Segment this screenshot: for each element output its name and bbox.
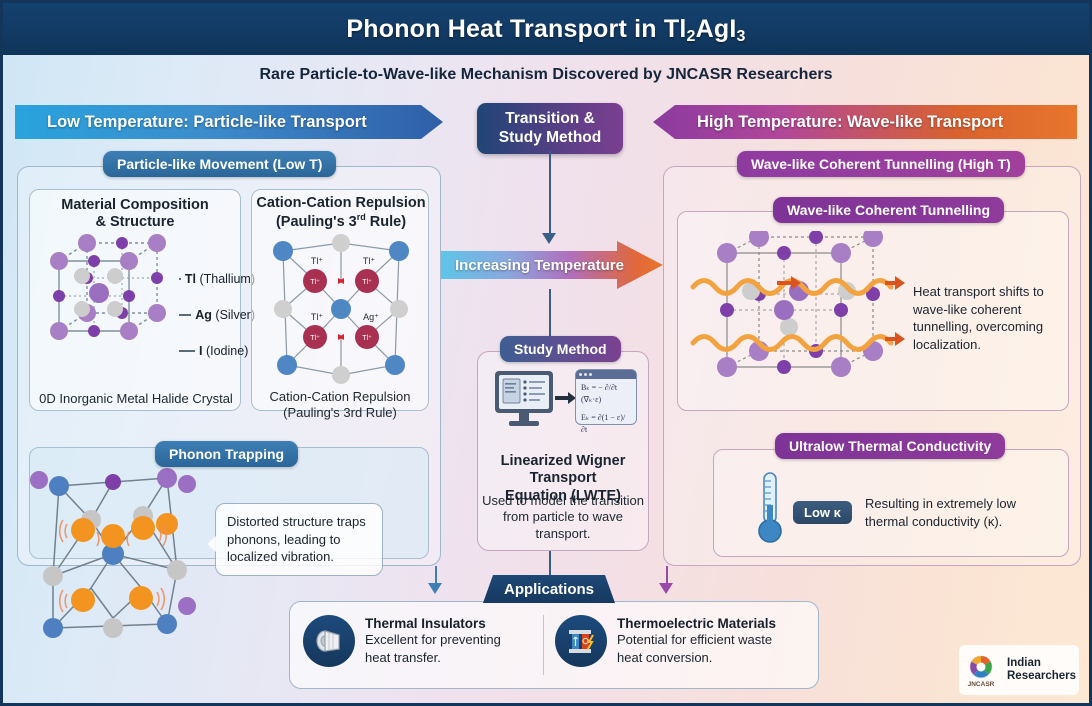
- conductivity-description: Resulting in extremely low thermal condu…: [865, 495, 1065, 530]
- transition-arrow-head: [542, 233, 556, 244]
- application-desc-1-line1: Potential for efficient waste: [617, 631, 776, 649]
- jncasr-mark-icon: [967, 653, 995, 681]
- equation-line-2: Eₖ = ∂(1 − ε)/∂t: [576, 409, 636, 439]
- right-to-apps-line: [666, 566, 668, 584]
- column-header-transition: Transition & Study Method: [477, 103, 623, 154]
- jncasr-mark-label: JNCASR: [968, 681, 995, 688]
- thermoelectric-module-icon: [555, 615, 607, 667]
- left-to-apps-line: [435, 566, 437, 584]
- applications-label: Applications: [504, 581, 594, 598]
- conductivity-pill: Ultralow Thermal Conductivity: [775, 433, 1005, 459]
- logo-line-2: Researchers: [1007, 670, 1076, 683]
- application-desc-0-line1: Excellent for preventing: [365, 631, 501, 649]
- svg-text:Tl⁺: Tl⁺: [363, 256, 375, 266]
- transition-connector-line: [549, 151, 551, 235]
- wave-tunnelling-lattice-icon: [689, 231, 909, 403]
- increasing-temperature-arrow: Increasing Temperature: [441, 241, 663, 289]
- column-header-low-temperature: Low Temperature: Particle-like Transport: [15, 105, 443, 139]
- phonon-trapping-callout: Distorted structure traps phonons, leadi…: [215, 503, 383, 576]
- svg-text:Tl⁺: Tl⁺: [310, 335, 320, 342]
- crystal-lattice-icon: [37, 231, 187, 381]
- lwte-description: Used to model the transition from partic…: [475, 493, 651, 542]
- page-title: Phonon Heat Transport in Tl2AgI3: [346, 15, 745, 44]
- tunnelling-callout: Heat transport shifts to wave-like coher…: [913, 283, 1061, 353]
- transition-label: Transition & Study Method: [499, 110, 601, 146]
- page-subtitle: Rare Particle-to-Wave-like Mechanism Dis…: [3, 55, 1089, 95]
- column-header-high-temperature: High Temperature: Wave-like Transport: [653, 105, 1077, 139]
- study-method-pill: Study Method: [500, 336, 621, 362]
- distorted-lattice-icon: [17, 458, 207, 663]
- legend-name-tl: (Thallium): [199, 272, 255, 286]
- study-method-connector-line: [549, 289, 551, 343]
- arrow-right-icon: [555, 391, 577, 405]
- particle-like-movement-pill: Particle-like Movement (Low T): [103, 151, 336, 177]
- svg-text:Tl⁺: Tl⁺: [362, 335, 372, 342]
- high-temp-label: High Temperature: Wave-like Transport: [697, 113, 1003, 132]
- low-kappa-badge: Low κ: [793, 501, 852, 524]
- low-temp-label: Low Temperature: Particle-like Transport: [47, 113, 367, 132]
- equation-window: Bₖ = − ∂/∂t (∇ₖ·ε) Eₖ = ∂(1 − ε)/∂t: [575, 369, 637, 425]
- application-desc-1-line2: heat conversion.: [617, 649, 776, 667]
- legend-symbol-ag: Ag: [195, 308, 212, 322]
- repulsion-caption: Cation-Cation Repulsion (Pauling's 3rd R…: [251, 389, 429, 422]
- legend-name-i: (Iodine): [206, 344, 248, 358]
- applications-divider: [543, 615, 544, 675]
- legend-name-ag: (Silver): [215, 308, 255, 322]
- increasing-temperature-label: Increasing Temperature: [455, 257, 624, 274]
- material-heading: Material Composition & Structure: [29, 197, 241, 232]
- equation-window-titlebar: [576, 370, 636, 379]
- legend-symbol-i: I: [199, 344, 202, 358]
- applications-connector-line: [549, 551, 551, 577]
- thermometer-icon: [755, 471, 785, 547]
- equation-line-1: Bₖ = − ∂/∂t (∇ₖ·ε): [576, 379, 636, 409]
- title-bar: Phonon Heat Transport in Tl2AgI3: [3, 3, 1089, 55]
- application-title-0: Thermal Insulators: [365, 616, 501, 631]
- phonon-trapping-pill: Phonon Trapping: [155, 441, 298, 467]
- repulsion-heading: Cation-Cation Repulsion (Pauling's 3rd R…: [249, 195, 433, 232]
- legend-symbol-tl: Tl: [185, 272, 196, 286]
- tunnelling-card-pill: Wave-like Coherent Tunnelling: [773, 197, 1004, 223]
- application-desc-0-line2: heat transfer.: [365, 649, 501, 667]
- computer-monitor-icon: [493, 369, 555, 429]
- wave-tunnelling-pill: Wave-like Coherent Tunnelling (High T): [737, 151, 1025, 177]
- infographic-poster: Phonon Heat Transport in Tl2AgI3 Rare Pa…: [0, 0, 1092, 706]
- svg-text:Ag⁺: Ag⁺: [363, 312, 379, 322]
- application-title-1: Thermoelectric Materials: [617, 616, 776, 631]
- svg-text:Tl⁺: Tl⁺: [310, 279, 320, 286]
- left-to-apps-arrow: [428, 583, 442, 594]
- application-item-thermal-insulators: Thermal Insulators Excellent for prevent…: [303, 615, 535, 667]
- cation-repulsion-diagram-icon: Tl⁺Tl⁺ Tl⁺Tl⁺ Tl⁺Tl⁺ Tl⁺Ag⁺: [265, 233, 417, 385]
- svg-text:Tl⁺: Tl⁺: [311, 256, 323, 266]
- material-caption: 0D Inorganic Metal Halide Crystal: [25, 391, 247, 407]
- insulation-roll-icon: [303, 615, 355, 667]
- svg-text:Tl⁺: Tl⁺: [311, 312, 323, 322]
- right-to-apps-arrow: [659, 583, 673, 594]
- jncasr-logo: JNCASR Indian Researchers: [959, 645, 1079, 695]
- logo-line-1: Indian: [1007, 657, 1076, 670]
- lattice-legend: Tl (Thallium) Ag (Silver) I (Iodine): [179, 261, 255, 369]
- svg-text:Tl⁺: Tl⁺: [362, 279, 372, 286]
- application-item-thermoelectric: Thermoelectric Materials Potential for e…: [555, 615, 811, 667]
- applications-tab: Applications: [483, 575, 615, 603]
